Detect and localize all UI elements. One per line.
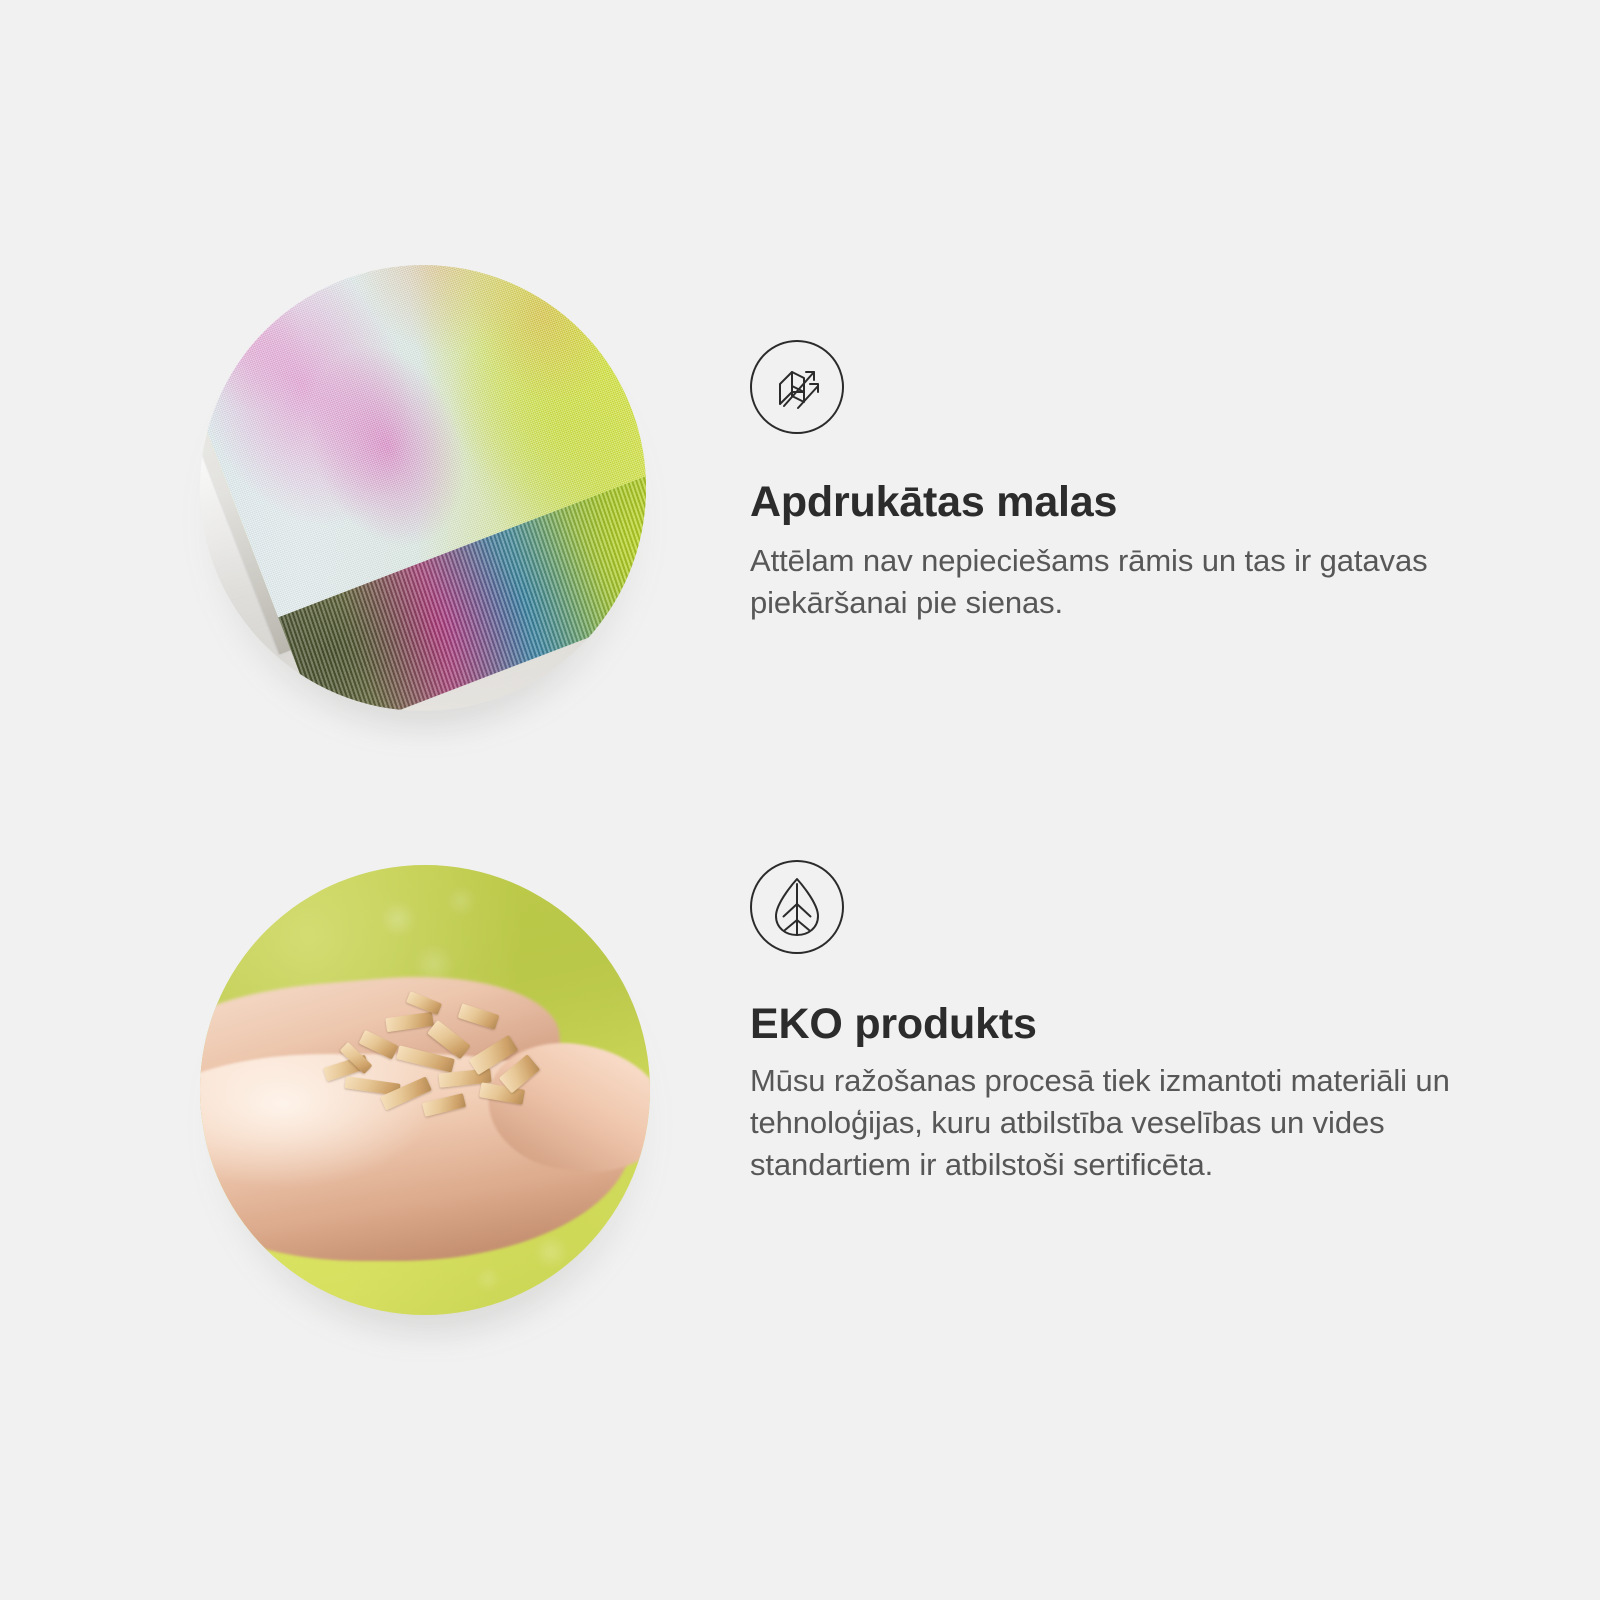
canvas-photo-background (200, 265, 646, 711)
feature-block-eco-product: EKO produkts Mūsu ražošanas procesā tiek… (0, 800, 1600, 1600)
feature-panel: Apdrukātas malas Attēlam nav nepieciešam… (0, 0, 1600, 1600)
page-title: Apdrukātas malas (750, 478, 1510, 526)
wood-chips-cluster (308, 991, 569, 1144)
wood-chip (386, 1012, 434, 1032)
feature-description: Attēlam nav nepieciešams rāmis un tas ir… (750, 540, 1450, 624)
feature-description: Mūsu ražošanas procesā tiek izmantoti ma… (750, 1060, 1465, 1186)
wood-chip (458, 1004, 500, 1031)
wood-chip (406, 991, 442, 1015)
feature-block-printed-edges: Apdrukātas malas Attēlam nav nepieciešam… (0, 0, 1600, 800)
wood-chip (396, 1045, 455, 1072)
leaf-icon (750, 860, 844, 954)
page-title: EKO produkts (750, 1000, 1510, 1048)
feature-text-printed-edges: Apdrukātas malas Attēlam nav nepieciešam… (750, 340, 1510, 624)
printed-edges-icon (750, 340, 844, 434)
feature-text-eco-product: EKO produkts Mūsu ražošanas procesā tiek… (750, 860, 1510, 1187)
wood-chip (422, 1093, 466, 1116)
eco-photo-background (200, 865, 650, 1315)
wood-chips-in-hands-photo (200, 865, 650, 1315)
canvas-corner-photo (200, 265, 646, 711)
